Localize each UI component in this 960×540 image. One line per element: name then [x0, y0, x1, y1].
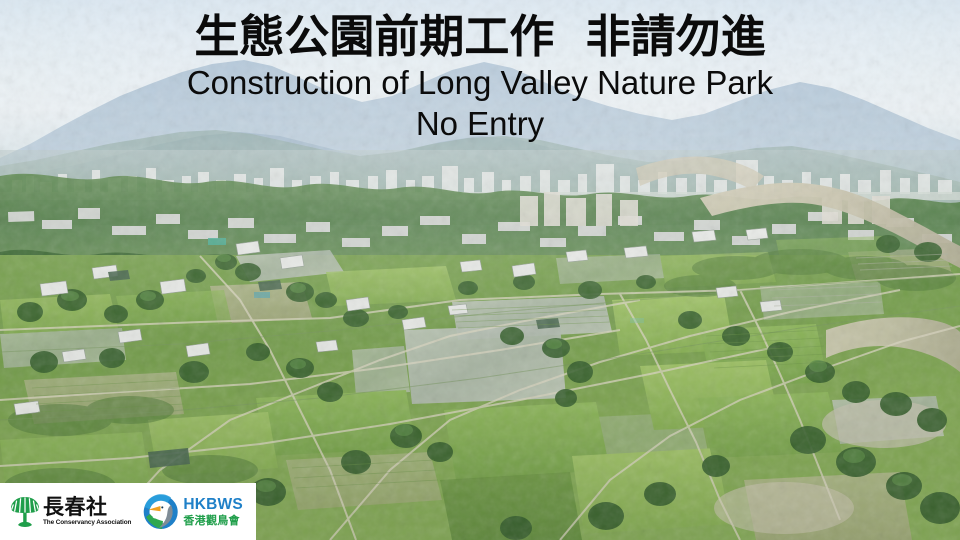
aerial-photo-background [0, 0, 960, 540]
hkbws-text: HKBWS 香港觀鳥會 [183, 497, 243, 526]
hkbws-name-chinese: 香港觀鳥會 [183, 515, 243, 526]
egret-bird-logo-icon [141, 493, 181, 531]
hkbws-name-english: HKBWS [183, 497, 243, 513]
farm-house [14, 228, 782, 415]
ca-name-chinese: 長春社 [43, 497, 131, 518]
trees-and-houses-detail [0, 0, 960, 540]
presentation-slide: 生態公園前期工作 非請勿進 Construction of Long Valle… [0, 0, 960, 540]
logo-hkbws: HKBWS 香港觀鳥會 [141, 493, 243, 531]
ca-name-english: The Conservancy Association [43, 520, 131, 526]
conservancy-association-text: 長春社 The Conservancy Association [43, 497, 131, 526]
logo-conservancy-association: 長春社 The Conservancy Association [10, 495, 131, 529]
tree-logo-icon [10, 495, 40, 529]
logo-band: 長春社 The Conservancy Association [0, 483, 256, 540]
